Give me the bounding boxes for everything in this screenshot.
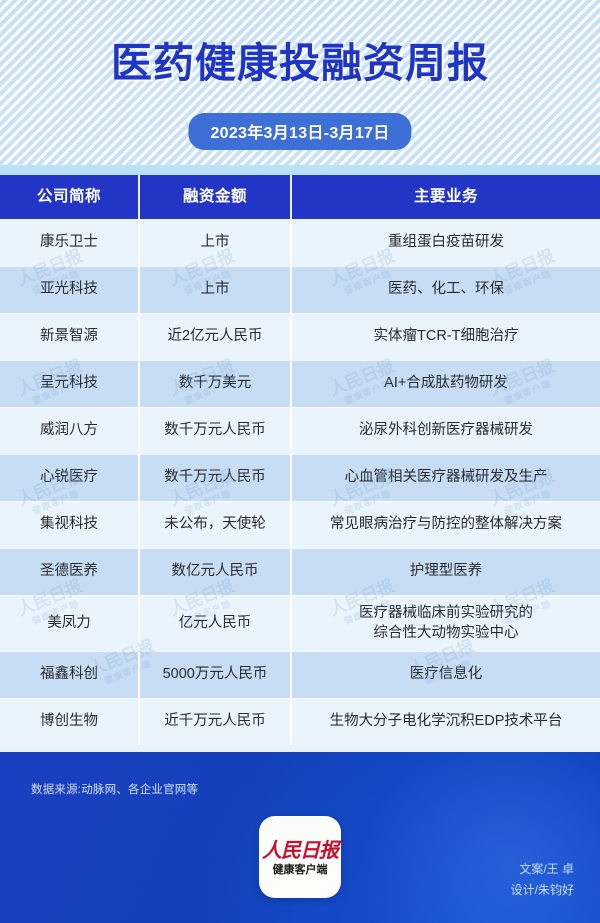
cell-business: 泌尿外科创新医疗器械研发 — [290, 408, 600, 454]
cell-company: 集视科技 — [0, 502, 138, 548]
poster-header: 医药健康投融资周报 2023年3月13日-3月17日 — [0, 0, 600, 165]
poster-footer: 数据来源:动脉网、各企业官网等 人民日报 健康客户端 文案/王 卓 设计/朱钧好 — [0, 752, 600, 923]
table-row: 康乐卫士 上市 重组蛋白疫苗研发 — [0, 219, 600, 266]
cell-company: 亚光科技 — [0, 267, 138, 313]
financing-table: 公司简称 融资金额 主要业务 康乐卫士 上市 重组蛋白疫苗研发 亚光科技 上市 … — [0, 175, 600, 745]
cell-business: 护理型医养 — [290, 549, 600, 595]
cell-amount: 5000万元人民币 — [138, 652, 290, 698]
cell-business: AI+合成肽药物研发 — [290, 361, 600, 407]
credits-block: 文案/王 卓 设计/朱钧好 — [511, 859, 574, 901]
header-divider-strip — [0, 165, 600, 175]
cell-company: 呈元科技 — [0, 361, 138, 407]
cell-company: 美凤力 — [0, 596, 138, 651]
table-row: 威润八方 数千万元人民币 泌尿外科创新医疗器械研发 — [0, 407, 600, 454]
cell-amount: 近2亿元人民币 — [138, 314, 290, 360]
logo-primary-text: 人民日报 — [262, 840, 338, 860]
table-row: 心锐医疗 数千万元人民币 心血管相关医疗器械研发及生产 — [0, 454, 600, 501]
cell-company: 新景智源 — [0, 314, 138, 360]
cell-company: 威润八方 — [0, 408, 138, 454]
cell-amount: 未公布，天使轮 — [138, 502, 290, 548]
brand-logo: 人民日报 健康客户端 — [259, 816, 341, 898]
weekly-report-poster: 医药健康投融资周报 2023年3月13日-3月17日 公司简称 融资金额 主要业… — [0, 0, 600, 923]
cell-company: 心锐医疗 — [0, 455, 138, 501]
cell-amount: 数千万元人民币 — [138, 455, 290, 501]
table-row: 新景智源 近2亿元人民币 实体瘤TCR-T细胞治疗 — [0, 313, 600, 360]
page-title: 医药健康投融资周报 — [0, 42, 600, 85]
cell-amount: 数亿元人民币 — [138, 549, 290, 595]
cell-business: 实体瘤TCR-T细胞治疗 — [290, 314, 600, 360]
data-source-note: 数据来源:动脉网、各企业官网等 — [31, 781, 198, 797]
table-row: 博创生物 近千万元人民币 生物大分子电化学沉积EDP技术平台 — [0, 698, 600, 745]
column-header-amount: 融资金额 — [138, 175, 290, 219]
cell-amount: 上市 — [138, 219, 290, 266]
date-range-badge: 2023年3月13日-3月17日 — [188, 113, 411, 150]
credit-writer: 文案/王 卓 — [511, 859, 574, 880]
table-row: 呈元科技 数千万美元 AI+合成肽药物研发 — [0, 360, 600, 407]
cell-business: 重组蛋白疫苗研发 — [290, 219, 600, 266]
cell-business: 生物大分子电化学沉积EDP技术平台 — [290, 699, 600, 745]
cell-amount: 数千万美元 — [138, 361, 290, 407]
cell-amount: 亿元人民币 — [138, 596, 290, 651]
table-header-row: 公司简称 融资金额 主要业务 — [0, 175, 600, 219]
cell-company: 福鑫科创 — [0, 652, 138, 698]
table-row: 集视科技 未公布，天使轮 常见眼病治疗与防控的整体解决方案 — [0, 501, 600, 548]
cell-company: 博创生物 — [0, 699, 138, 745]
cell-business: 心血管相关医疗器械研发及生产 — [290, 455, 600, 501]
credit-designer: 设计/朱钧好 — [511, 880, 574, 901]
cell-company: 康乐卫士 — [0, 219, 138, 266]
cell-amount: 近千万元人民币 — [138, 699, 290, 745]
table-row: 圣德医养 数亿元人民币 护理型医养 — [0, 548, 600, 595]
cell-business: 医疗器械临床前实验研究的 综合性大动物实验中心 — [290, 596, 600, 651]
table-row: 福鑫科创 5000万元人民币 医疗信息化 — [0, 651, 600, 698]
logo-secondary-text: 健康客户端 — [273, 864, 328, 875]
column-header-business: 主要业务 — [290, 175, 600, 219]
cell-business: 医药、化工、环保 — [290, 267, 600, 313]
cell-amount: 上市 — [138, 267, 290, 313]
column-header-company: 公司简称 — [0, 175, 138, 219]
cell-business: 医疗信息化 — [290, 652, 600, 698]
cell-amount: 数千万元人民币 — [138, 408, 290, 454]
table-row: 亚光科技 上市 医药、化工、环保 — [0, 266, 600, 313]
table-row: 美凤力 亿元人民币 医疗器械临床前实验研究的 综合性大动物实验中心 — [0, 595, 600, 651]
cell-business: 常见眼病治疗与防控的整体解决方案 — [290, 502, 600, 548]
cell-company: 圣德医养 — [0, 549, 138, 595]
